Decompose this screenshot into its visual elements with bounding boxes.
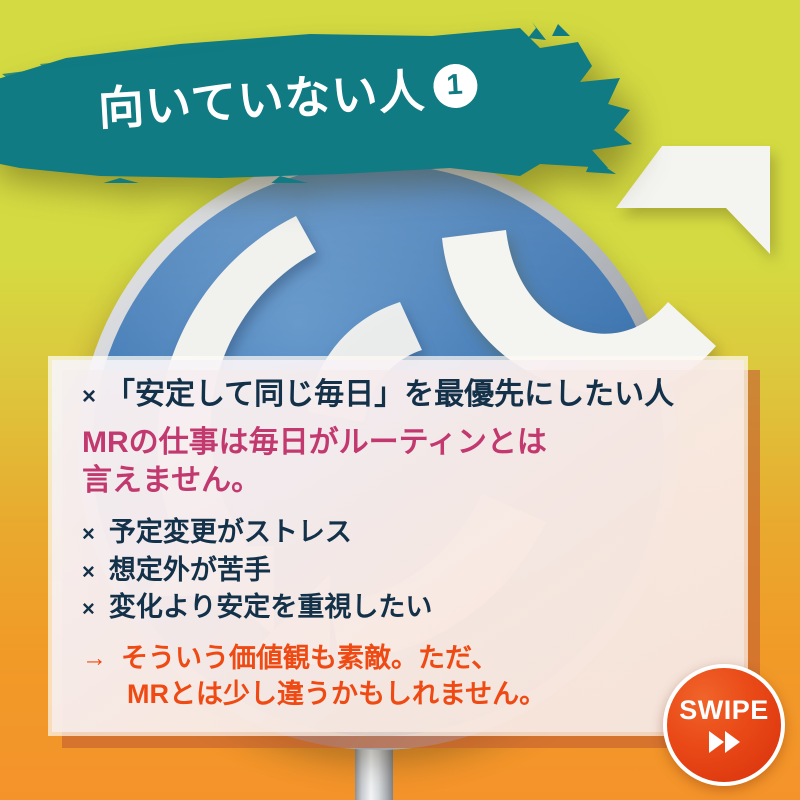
conclusion-line-2: MRとは少し違うかもしれません。 bbox=[121, 676, 546, 712]
list-item: × 予定変更がストレス bbox=[82, 514, 718, 551]
conclusion-line-1: そういう価値観も素敵。ただ、 bbox=[121, 640, 546, 676]
swipe-button[interactable]: SWIPE bbox=[663, 664, 785, 786]
heading-x-marker: × bbox=[82, 384, 96, 411]
bullet-text: 予定変更がストレス bbox=[109, 514, 352, 551]
triangle-2 bbox=[725, 731, 740, 753]
content-card-frame: × 「安定して同じ毎日」を最優先にしたい人 MRの仕事は毎日がルーティンとは 言… bbox=[48, 356, 748, 736]
fast-forward-icon bbox=[709, 731, 740, 753]
list-item: × 想定外が苦手 bbox=[82, 552, 718, 589]
bullet-x-marker: × bbox=[82, 594, 95, 624]
heading-text: 「安定して同じ毎日」を最優先にしたい人 bbox=[105, 378, 674, 412]
bullet-x-marker: × bbox=[82, 557, 95, 587]
slide-canvas: 向いていない人 1 × 「安定して同じ毎日」を最優先にしたい人 MRの仕事は毎日… bbox=[0, 0, 800, 800]
bullet-text: 変化より安定を重視したい bbox=[109, 589, 432, 626]
arrow-right-icon: → bbox=[82, 640, 107, 712]
card-conclusion: → そういう価値観も素敵。ただ、 MRとは少し違うかもしれません。 bbox=[82, 640, 718, 712]
lead-line-1: MRの仕事は毎日がルーティンとは bbox=[82, 424, 718, 462]
triangle-1 bbox=[709, 731, 724, 753]
banner-number-badge: 1 bbox=[432, 63, 478, 109]
card-heading: × 「安定して同じ毎日」を最優先にしたい人 bbox=[82, 378, 718, 412]
conclusion-lines: そういう価値観も素敵。ただ、 MRとは少し違うかもしれません。 bbox=[121, 640, 546, 712]
swipe-label: SWIPE bbox=[679, 697, 769, 724]
card-lead: MRの仕事は毎日がルーティンとは 言えません。 bbox=[82, 424, 718, 501]
bullet-list: × 予定変更がストレス × 想定外が苦手 × 変化より安定を重視したい bbox=[82, 514, 718, 626]
list-item: × 変化より安定を重視したい bbox=[82, 589, 718, 626]
lead-line-2: 言えません。 bbox=[82, 462, 718, 500]
bullet-x-marker: × bbox=[82, 519, 95, 549]
content-card: × 「安定して同じ毎日」を最優先にしたい人 MRの仕事は毎日がルーティンとは 言… bbox=[52, 360, 744, 732]
bullet-text: 想定外が苦手 bbox=[109, 552, 271, 589]
